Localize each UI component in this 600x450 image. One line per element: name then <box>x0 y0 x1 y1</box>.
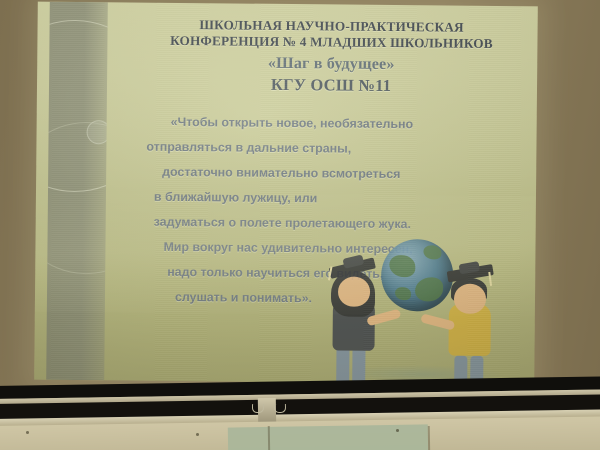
child-head <box>338 277 370 307</box>
bracket-hook-right-icon <box>274 404 286 413</box>
quote-line: «Чтобы открыть новое, необязательно <box>147 110 517 139</box>
child-head <box>454 284 486 314</box>
quote-line: в ближайшую лужицу, или <box>146 185 516 214</box>
wall-screw <box>396 429 399 432</box>
decorative-arc-medium-icon <box>46 121 108 274</box>
child-leg <box>352 347 365 385</box>
projected-slide-photo: ШКОЛЬНАЯ НАУЧНО-ПРАКТИЧЕСКАЯ КОНФЕРЕНЦИЯ… <box>0 0 600 450</box>
projection-screen: ШКОЛЬНАЯ НАУЧНО-ПРАКТИЧЕСКАЯ КОНФЕРЕНЦИЯ… <box>34 2 538 385</box>
globe-landmass <box>415 277 443 301</box>
wall-screw <box>196 433 199 436</box>
slide-decoration-band <box>46 2 108 381</box>
slide-title-block: ШКОЛЬНАЯ НАУЧНО-ПРАКТИЧЕСКАЯ КОНФЕРЕНЦИЯ… <box>133 17 530 98</box>
presentation-slide: ШКОЛЬНАЯ НАУЧНО-ПРАКТИЧЕСКАЯ КОНФЕРЕНЦИЯ… <box>34 2 538 385</box>
decorative-circle-small-icon <box>86 120 107 144</box>
quote-line: отправляться в дальние страны, <box>146 135 516 164</box>
child-leg <box>336 346 349 384</box>
bracket-hook-left-icon <box>252 404 264 413</box>
title-line-4-school-name: КГУ ОСШ №11 <box>133 73 529 98</box>
title-line-2: КОНФЕРЕНЦИЯ № 4 МЛАДШИХ ШКОЛЬНИКОВ <box>133 33 529 53</box>
quote-line: достаточно внимательно всмотреться <box>146 160 516 189</box>
quote-line: задуматься о полете пролетающего жука. <box>146 210 516 239</box>
globe-icon <box>381 239 454 312</box>
wall-screw <box>26 431 29 434</box>
globe-landmass <box>395 287 411 300</box>
children-with-globe-illustration <box>316 236 529 384</box>
globe-landmass <box>423 245 441 259</box>
globe-landmass <box>389 255 415 277</box>
